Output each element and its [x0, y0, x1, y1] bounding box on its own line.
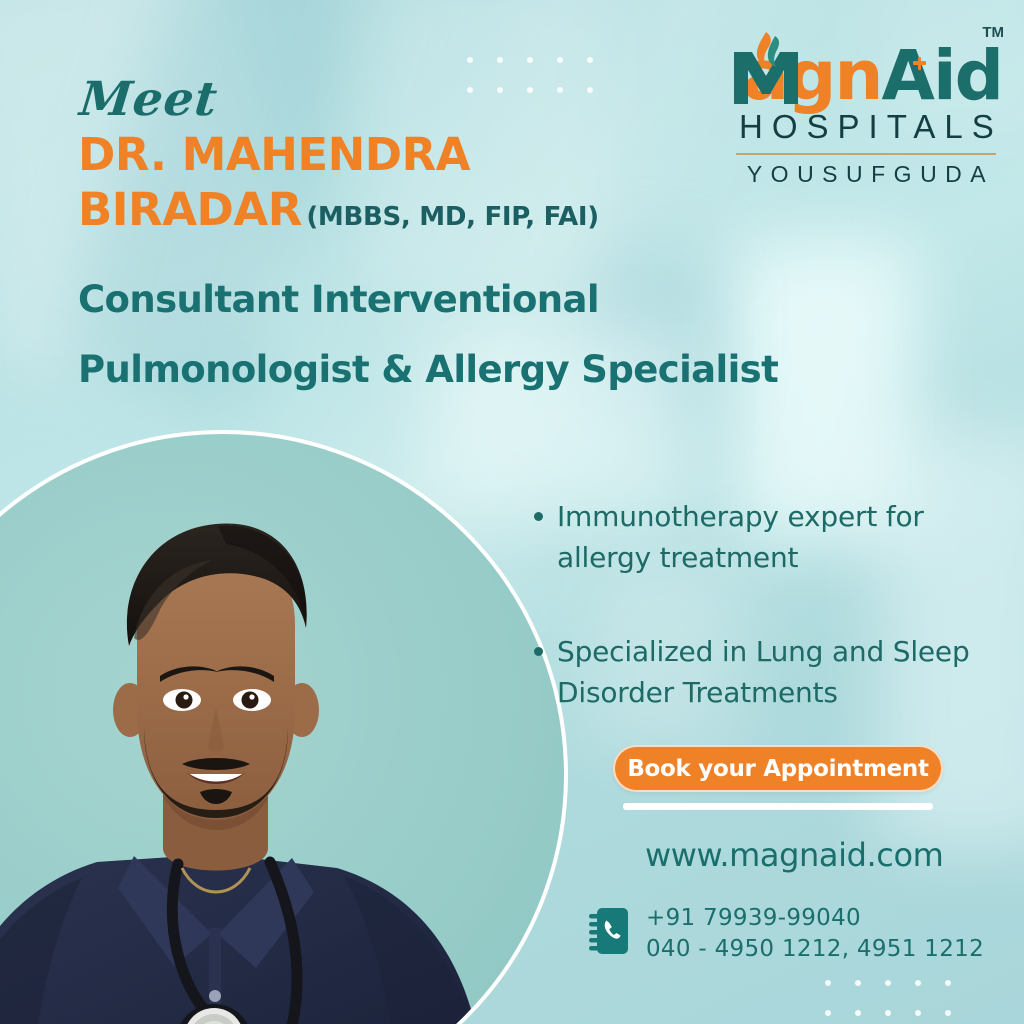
poster-canvas: agn Aid TM HOSPITALS YOUSUFGUDA Meet DR.…	[0, 0, 1024, 1024]
phone-number-primary[interactable]: +91 79939-99040	[646, 903, 984, 934]
contact-book-phone-icon	[589, 907, 629, 955]
cta-underline-bar	[623, 803, 933, 810]
logo-wordmark: agn Aid TM	[730, 14, 1002, 106]
bullet-dot-icon	[534, 512, 543, 521]
highlight-text: Specialized in Lung and Sleep Disorder T…	[557, 631, 974, 714]
doctor-name-line-2: BIRADAR	[78, 183, 302, 236]
list-item: Specialized in Lung and Sleep Disorder T…	[534, 631, 974, 714]
specialty-line-2: Pulmonologist & Allergy Specialist	[78, 335, 798, 405]
logo-text-aid-letters: Aid	[882, 36, 1002, 116]
doctor-credentials: (MBBS, MD, FIP, FAI)	[306, 202, 599, 232]
book-appointment-button[interactable]: Book your Appointment	[613, 745, 943, 792]
phone-numbers[interactable]: +91 79939-99040 040 - 4950 1212, 4951 12…	[646, 903, 984, 965]
doctor-portrait-photo	[0, 496, 568, 1024]
doctor-name-block: DR. MAHENDRA BIRADAR (MBBS, MD, FIP, FAI…	[78, 128, 698, 238]
meet-script-text: Meet	[77, 72, 220, 127]
dot-grid-decoration-bottom	[825, 980, 951, 1016]
specialty-line-1: Consultant Interventional	[78, 265, 798, 335]
phone-number-secondary[interactable]: 040 - 4950 1212, 4951 1212	[646, 934, 984, 965]
doctor-specialty-block: Consultant Interventional Pulmonologist …	[78, 265, 798, 406]
highlight-text: Immunotherapy expert for allergy treatme…	[557, 496, 974, 579]
trademark-symbol: TM	[982, 24, 1004, 41]
highlights-list: Immunotherapy expert for allergy treatme…	[534, 496, 974, 766]
logo-branch-text: YOUSUFGUDA	[730, 161, 1002, 188]
bullet-dot-icon	[534, 647, 543, 656]
doctor-portrait-circle	[0, 430, 568, 1024]
list-item: Immunotherapy expert for allergy treatme…	[534, 496, 974, 579]
logo-divider-rule	[736, 153, 996, 155]
magnaid-flame-m-icon	[730, 26, 744, 106]
contact-block: +91 79939-99040 040 - 4950 1212, 4951 12…	[589, 903, 984, 965]
doctor-name-line-1: DR. MAHENDRA	[78, 128, 698, 183]
logo-text-aid: Aid	[882, 47, 1002, 106]
medical-cross-icon	[913, 57, 926, 70]
dot-grid-decoration-top	[467, 57, 593, 93]
brand-logo: agn Aid TM HOSPITALS YOUSUFGUDA	[730, 14, 1002, 188]
doctor-name-line-2-row: BIRADAR (MBBS, MD, FIP, FAI)	[78, 183, 698, 238]
website-link[interactable]: www.magnaid.com	[645, 836, 943, 874]
